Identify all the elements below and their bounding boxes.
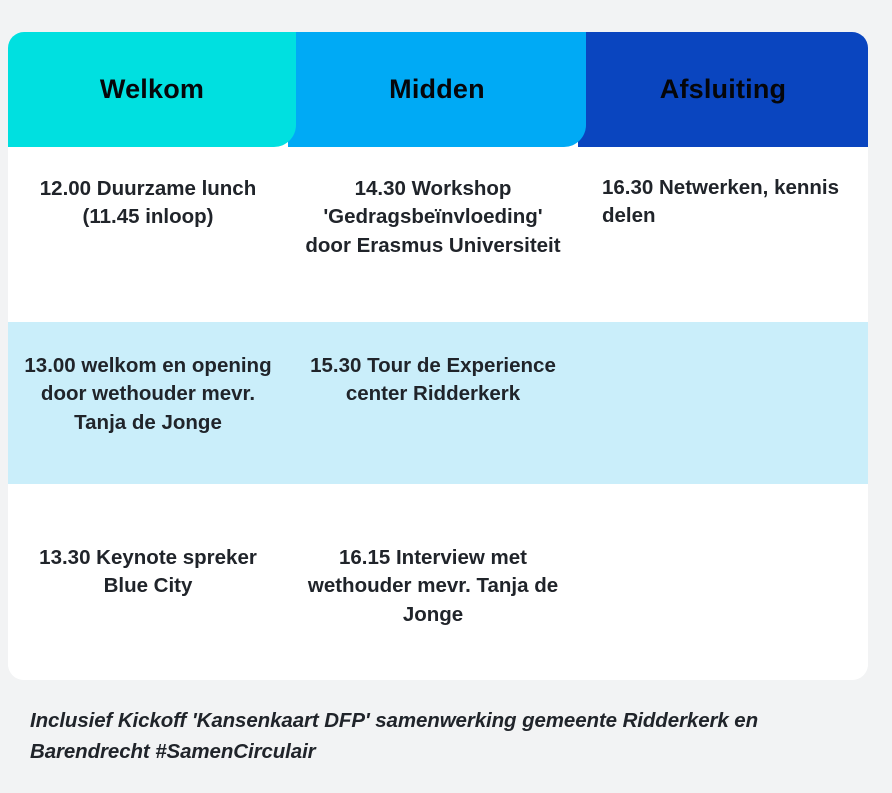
column-header-afsluiting-label: Afsluiting [660,75,786,105]
schedule-card: Welkom Midden Afsluiting 12.00 Duurzame … [8,32,868,680]
schedule-body: 12.00 Duurzame lunch (11.45 inloop) 14.3… [8,147,868,680]
schedule-cell-welkom-1: 12.00 Duurzame lunch (11.45 inloop) [8,147,288,322]
footer-note-text: Inclusief Kickoff 'Kansenkaart DFP' same… [30,706,830,768]
schedule-cell-afsluiting-2 [578,322,868,484]
schedule-page: Welkom Midden Afsluiting 12.00 Duurzame … [0,0,892,793]
schedule-cell-midden-2: 15.30 Tour de Experience center Ridderke… [288,322,578,484]
schedule-cell-welkom-2: 13.00 welkom en opening door wethouder m… [8,322,288,484]
column-header-afsluiting: Afsluiting [578,32,868,147]
table-row: 12.00 Duurzame lunch (11.45 inloop) 14.3… [8,147,868,322]
column-header-welkom: Welkom [8,32,296,147]
schedule-cell-midden-1: 14.30 Workshop 'Gedragsbeïnvloeding' doo… [288,147,578,322]
schedule-cell-midden-3: 16.15 Interview met wethouder mevr. Tanj… [288,484,578,680]
column-header-midden-label: Midden [389,75,485,105]
table-row: 13.30 Keynote spreker Blue City 16.15 In… [8,484,868,680]
column-header-welkom-label: Welkom [100,75,204,105]
schedule-cell-afsluiting-3 [578,484,868,680]
table-row: 13.00 welkom en opening door wethouder m… [8,322,868,484]
schedule-header-row: Welkom Midden Afsluiting [8,32,868,147]
schedule-cell-afsluiting-1: 16.30 Netwerken, kennis delen [578,147,868,322]
schedule-cell-welkom-3: 13.30 Keynote spreker Blue City [8,484,288,680]
column-header-midden: Midden [288,32,586,147]
footer-note: Inclusief Kickoff 'Kansenkaart DFP' same… [30,706,830,768]
